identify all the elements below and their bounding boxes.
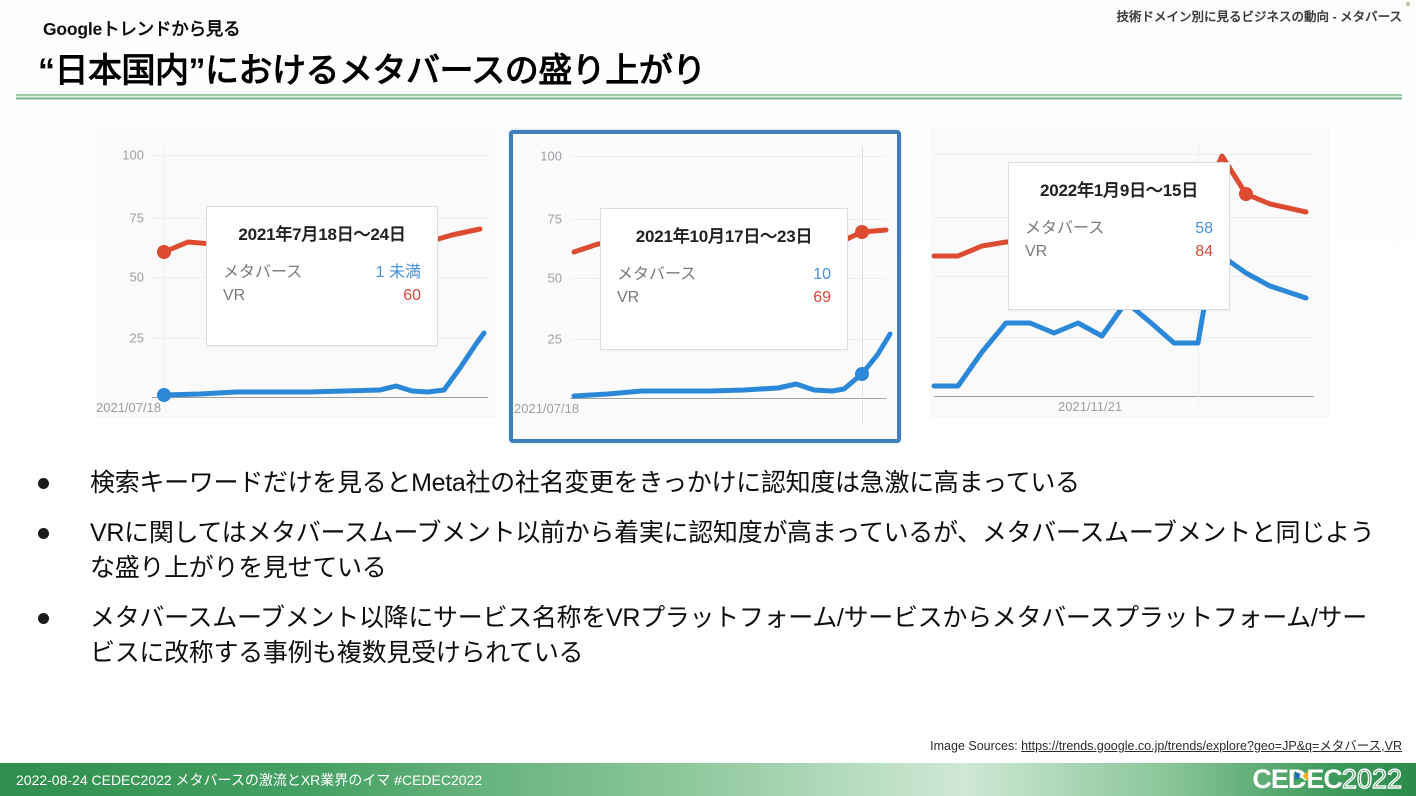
header-section-label: 技術ドメイン別に見るビジネスの動向 - メタバース <box>1117 6 1403 25</box>
charts-band: 100 75 50 25 2021/07/18 2021年 <box>0 128 1416 458</box>
tooltip-series-value: 58 <box>1195 217 1213 240</box>
bullet-dot-icon <box>38 528 49 539</box>
cedec-logo: CEDEC 2022 <box>1252 764 1402 795</box>
page-title: “日本国内”におけるメタバースの盛り上がり <box>38 43 706 92</box>
chart2-tooltip: 2021年10月17日〜23日 メタバース 10 VR 69 <box>600 208 848 350</box>
tooltip-series-name: メタバース <box>223 261 328 284</box>
chart1-plot-area: 100 75 50 25 2021/07/18 2021年 <box>96 128 496 418</box>
list-item: VRに関してはメタバースムーブメント以前から着実に認知度が高まっているが、メタバ… <box>0 516 1416 587</box>
list-item: メタバースムーブメント以降にサービス名称をVRプラットフォーム/サービスからメタ… <box>0 601 1416 672</box>
tooltip-series-name: メタバース <box>617 263 722 286</box>
tooltip-series-value: 69 <box>813 286 831 309</box>
bullet-dot-icon <box>38 613 49 624</box>
image-source-line: Image Sources: https://trends.google.co.… <box>930 735 1402 754</box>
cedec-logo-year: 2022 <box>1342 764 1402 795</box>
tooltip-row: メタバース 58 <box>1025 217 1213 240</box>
chart2-plot-area: 100 75 50 25 2021/07/18 2021年10月17日〜23日 <box>512 128 900 443</box>
tooltip-row: メタバース 10 <box>617 263 831 286</box>
chart3-plot-area: 2021/11/21 2022年1月9日〜15日 メタバース 58 <box>930 128 1330 418</box>
tooltip-row: メタバース 1 未満 <box>223 261 421 284</box>
tooltip-series-name: VR <box>617 286 665 309</box>
chart3-tooltip: 2022年1月9日〜15日 メタバース 58 VR 84 <box>1008 162 1230 310</box>
tooltip-date: 2021年10月17日〜23日 <box>617 222 831 247</box>
bullet-text: VRに関してはメタバースムーブメント以前から着実に認知度が高まっているが、メタバ… <box>90 516 1386 587</box>
chart1-tooltip: 2021年7月18日〜24日 メタバース 1 未満 VR 60 <box>206 206 438 346</box>
trends-chart-panel-3[interactable]: 2021/11/21 2022年1月9日〜15日 メタバース 58 <box>930 128 1330 418</box>
list-item: 検索キーワードだけを見るとMeta社の社名変更をきっかけに認知度は急激に高まって… <box>0 466 1416 502</box>
cedec-logo-x-icon <box>1295 771 1309 785</box>
slide-root: 技術ドメイン別に見るビジネスの動向 - メタバース Googleトレンドから見る… <box>0 0 1416 796</box>
hover-marker-metaverse <box>157 388 171 402</box>
slide-footer: 2022-08-24 CEDEC2022 メタバースの激流とXR業界のイマ #C… <box>0 763 1416 796</box>
hover-marker-vr <box>157 245 171 259</box>
tooltip-date: 2022年1月9日〜15日 <box>1025 176 1213 201</box>
image-source-link[interactable]: https://trends.google.co.jp/trends/explo… <box>1021 739 1402 753</box>
bullet-list: 検索キーワードだけを見るとMeta社の社名変更をきっかけに認知度は急激に高まって… <box>0 466 1416 686</box>
hover-marker-vr <box>855 225 869 239</box>
tooltip-series-value: 84 <box>1195 240 1213 263</box>
tooltip-date: 2021年7月18日〜24日 <box>223 220 421 245</box>
trends-chart-panel-2[interactable]: 100 75 50 25 2021/07/18 2021年10月17日〜23日 <box>512 128 900 443</box>
header-accent-dot <box>1406 2 1410 6</box>
title-divider <box>16 94 1402 100</box>
hover-marker-metaverse <box>855 367 869 381</box>
tooltip-series-name: メタバース <box>1025 217 1130 240</box>
tooltip-series-value: 1 未満 <box>376 261 421 284</box>
hover-marker-vr <box>1239 187 1253 201</box>
bullet-dot-icon <box>38 478 49 489</box>
tooltip-series-value: 10 <box>813 263 831 286</box>
tooltip-series-value: 60 <box>403 284 421 307</box>
tooltip-series-name: VR <box>223 284 271 307</box>
tooltip-row: VR 84 <box>1025 240 1213 263</box>
tooltip-row: VR 69 <box>617 286 831 309</box>
tooltip-series-name: VR <box>1025 240 1073 263</box>
footer-caption: 2022-08-24 CEDEC2022 メタバースの激流とXR業界のイマ #C… <box>16 770 482 790</box>
image-source-label: Image Sources: <box>930 739 1021 753</box>
bullet-text: 検索キーワードだけを見るとMeta社の社名変更をきっかけに認知度は急激に高まって… <box>90 466 1416 502</box>
trends-chart-panel-1[interactable]: 100 75 50 25 2021/07/18 2021年 <box>96 128 496 418</box>
bullet-text: メタバースムーブメント以降にサービス名称をVRプラットフォーム/サービスからメタ… <box>90 601 1386 672</box>
tooltip-row: VR 60 <box>223 284 421 307</box>
slide-kicker: Googleトレンドから見る <box>43 16 240 41</box>
